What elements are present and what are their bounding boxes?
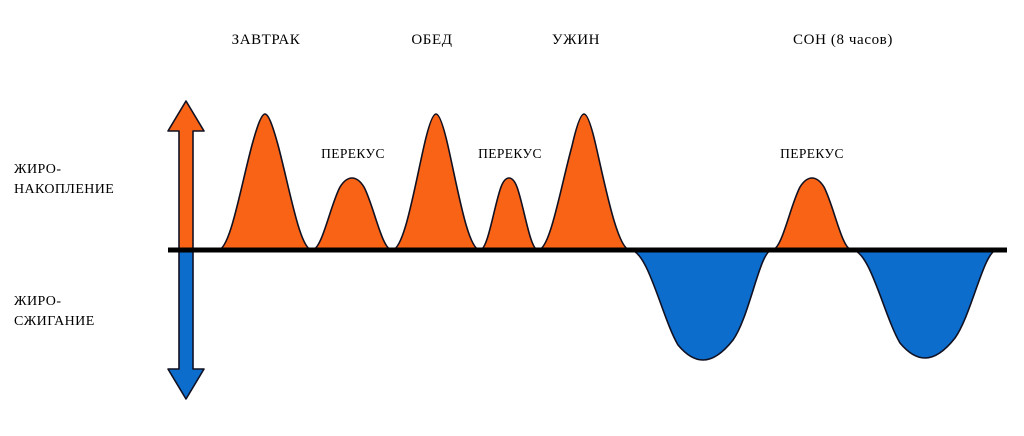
- lobe-snack-3: [772, 178, 852, 250]
- lobe-breakfast: [218, 114, 312, 250]
- snack-label-2: ПЕРЕКУС: [478, 147, 542, 161]
- axis-label-fat-burning: ЖИРО- СЖИГАНИЕ: [14, 292, 95, 333]
- fat-cycle-diagram: ЗАВТРАК ОБЕД УЖИН СОН (8 часов) ПЕРЕКУС …: [0, 0, 1024, 436]
- trough-sleep-1: [630, 250, 772, 360]
- lobe-snack-2: [480, 178, 538, 250]
- meal-label-lunch: ОБЕД: [411, 33, 452, 48]
- meal-label-breakfast: ЗАВТРАК: [232, 33, 301, 48]
- lobe-lunch: [392, 114, 480, 250]
- meal-label-dinner: УЖИН: [552, 33, 600, 48]
- lobe-snack-1: [312, 178, 392, 250]
- fat-storage-burning-chart: [0, 0, 1024, 436]
- snack-label-1: ПЕРЕКУС: [321, 147, 385, 161]
- trough-sleep-2: [852, 250, 997, 358]
- down-arrow-icon: [168, 250, 204, 399]
- up-arrow-icon: [168, 101, 204, 250]
- burning-area-group: [630, 250, 997, 360]
- accumulation-area-group: [218, 114, 852, 250]
- meal-label-sleep: СОН (8 часов): [793, 33, 893, 48]
- lobe-dinner: [538, 114, 630, 250]
- snack-label-3: ПЕРЕКУС: [780, 147, 844, 161]
- axis-label-fat-accumulation: ЖИРО- НАКОПЛЕНИЕ: [14, 160, 114, 201]
